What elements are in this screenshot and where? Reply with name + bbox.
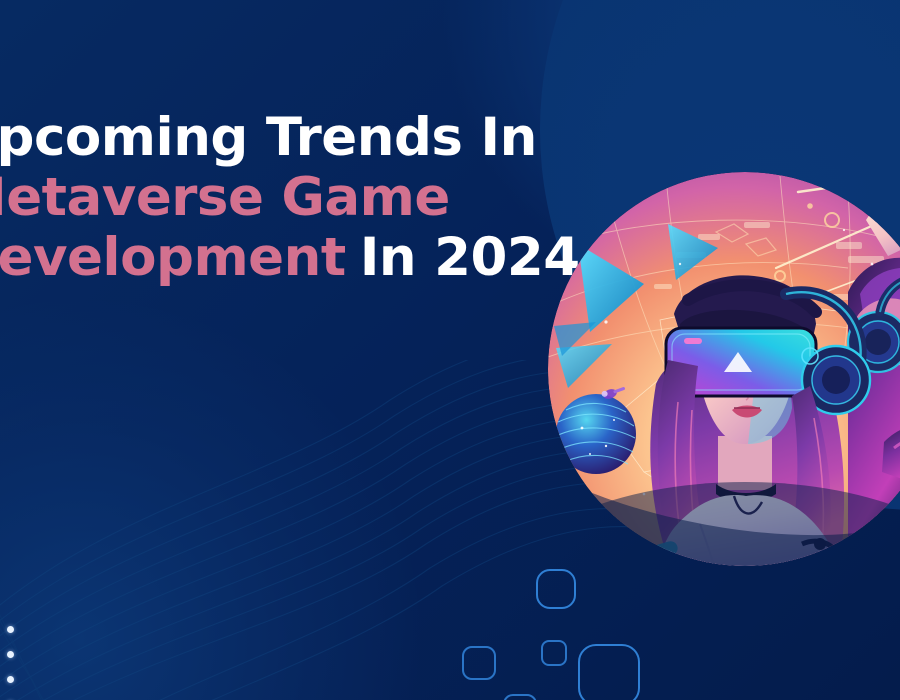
headline-line-3-white-text: In 2024 bbox=[360, 227, 580, 288]
headline-line-3: DevelopmentIn 2024 bbox=[0, 228, 594, 288]
headline-line-1: Upcoming Trends In bbox=[0, 108, 594, 168]
dot-3 bbox=[7, 676, 14, 683]
metaverse-vr-illustration bbox=[548, 172, 900, 566]
headline-line-2-text: Metaverse Game bbox=[0, 167, 450, 228]
rounded-square-decoration-1 bbox=[536, 569, 576, 609]
dot-2 bbox=[7, 651, 14, 658]
page-title: Upcoming Trends In Metaverse Game Develo… bbox=[0, 108, 594, 288]
headline-line-2: Metaverse Game bbox=[0, 168, 594, 228]
rounded-square-decoration-4 bbox=[578, 644, 640, 700]
rounded-square-decoration-5 bbox=[503, 694, 537, 700]
headline-line-1-text: Upcoming Trends In bbox=[0, 107, 537, 168]
headline-line-3-pink-text: Development bbox=[0, 227, 346, 288]
rounded-square-decoration-2 bbox=[462, 646, 496, 680]
dot-1 bbox=[7, 626, 14, 633]
rounded-square-decoration-3 bbox=[541, 640, 567, 666]
hero-banner: Upcoming Trends In Metaverse Game Develo… bbox=[0, 0, 900, 700]
illustration-canvas bbox=[548, 172, 900, 566]
dot-column-decoration bbox=[7, 626, 14, 700]
